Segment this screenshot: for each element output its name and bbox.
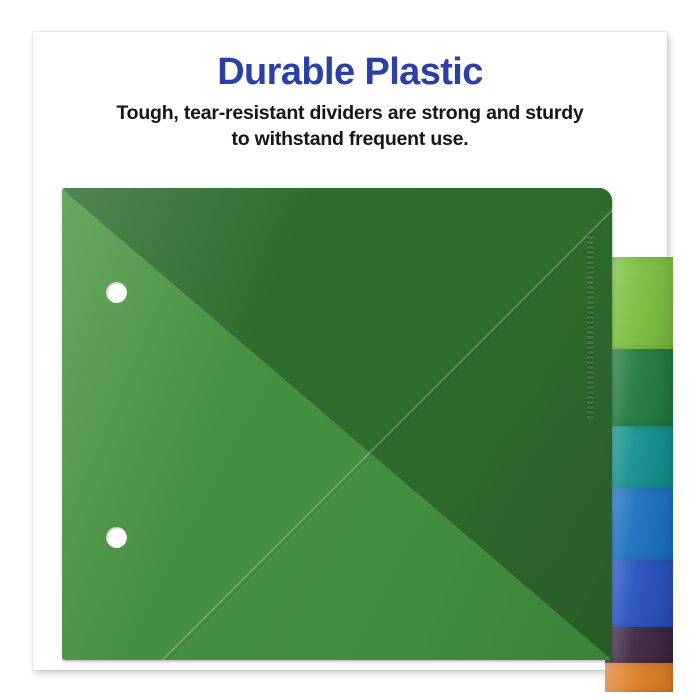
tab-gloss [605, 426, 673, 488]
divider-tab-stack [605, 225, 673, 692]
punch-hole-top [106, 282, 127, 303]
tab-lime-green [605, 257, 673, 349]
tab-gloss [605, 663, 673, 692]
tab-gloss [605, 257, 673, 349]
green-divider-sheet [62, 188, 612, 660]
tab-gloss [605, 560, 673, 627]
tab-royal-blue [605, 560, 673, 627]
marketing-copy: Durable Plastic Tough, tear-resistant di… [33, 32, 667, 153]
product-image-canvas: Durable Plastic Tough, tear-resistant di… [0, 0, 700, 700]
tab-blue [605, 488, 673, 560]
tab-dark-green [605, 349, 673, 426]
perforation-strip [587, 234, 594, 419]
tab-gloss [605, 488, 673, 560]
product-card: Durable Plastic Tough, tear-resistant di… [33, 32, 667, 670]
tab-teal [605, 426, 673, 488]
subtitle-line-1: Tough, tear-resistant dividers are stron… [116, 102, 583, 124]
tab-gloss [605, 627, 673, 663]
tab-purple [605, 627, 673, 663]
tab-orange [605, 663, 673, 692]
tab-gloss [605, 349, 673, 426]
punch-hole-bottom [106, 527, 127, 548]
page-title: Durable Plastic [33, 32, 667, 92]
subtitle: Tough, tear-resistant dividers are stron… [33, 92, 667, 153]
subtitle-line-2: to withstand frequent use. [33, 127, 667, 153]
